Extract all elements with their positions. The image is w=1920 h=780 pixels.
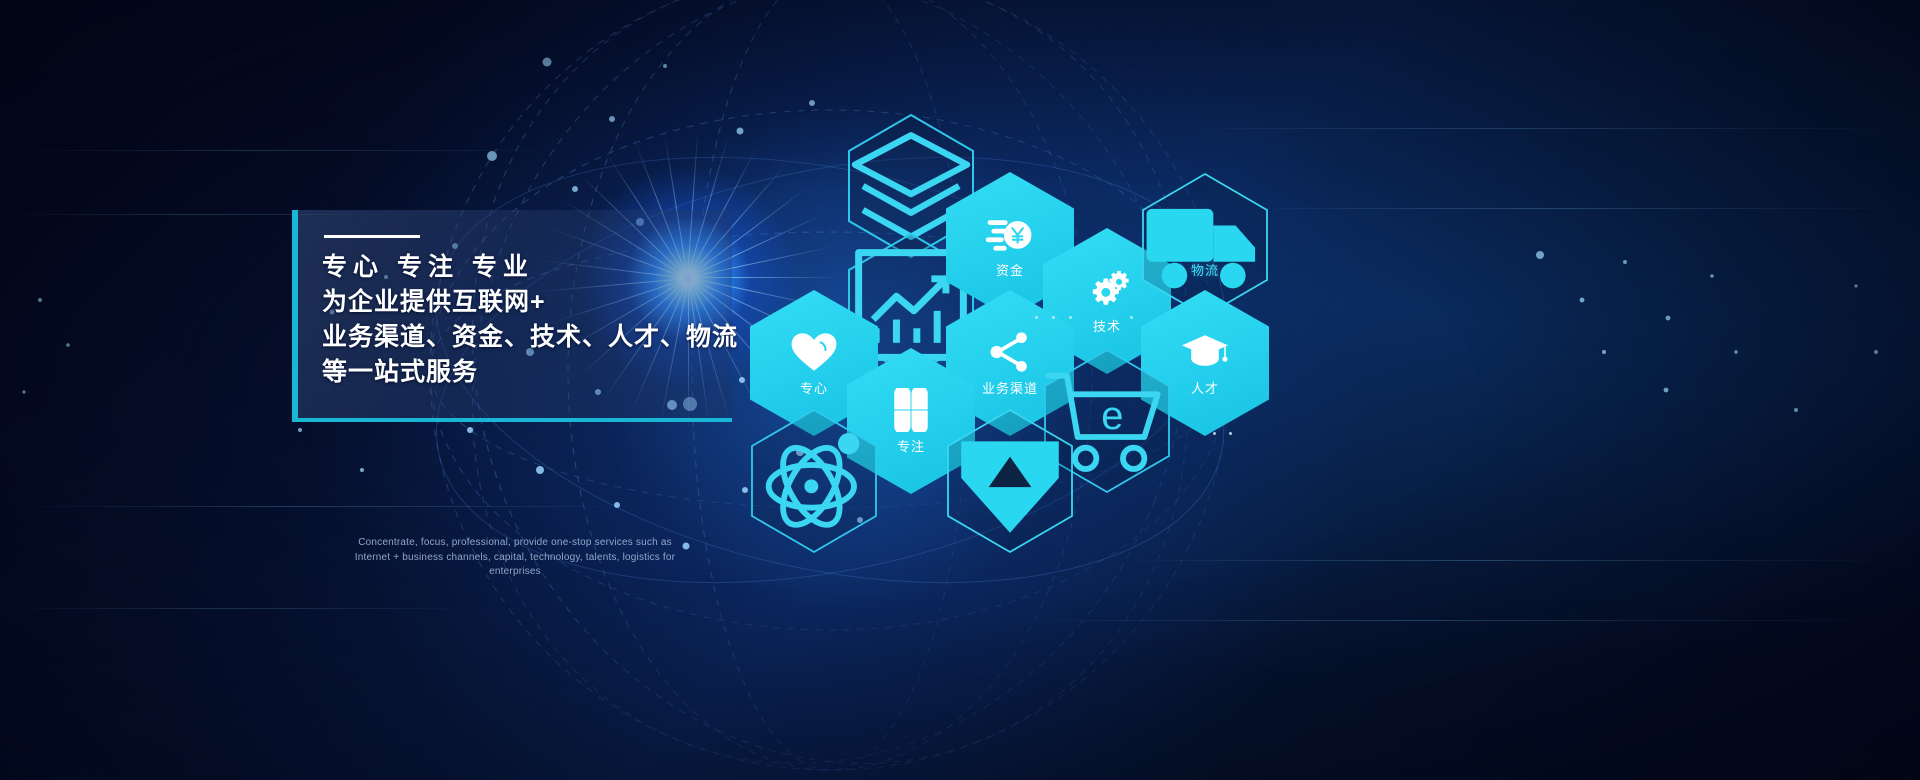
hex-label: 专注 — [897, 436, 925, 455]
connector-dot — [1035, 316, 1038, 319]
hex-label: 资金 — [996, 260, 1024, 279]
yuan-money-icon — [986, 212, 1034, 256]
connector-dot — [1069, 316, 1072, 319]
connector-dot — [1213, 432, 1216, 435]
hex-science[interactable] — [750, 408, 878, 554]
clover-icon — [889, 388, 933, 432]
hero-banner: 专心 专注 专业 为企业提供互联网+ 业务渠道、资金、技术、人才、物流 等一站式… — [0, 0, 1920, 780]
heart-icon — [790, 330, 838, 374]
connector-dot — [1130, 316, 1133, 319]
hex-label: 专心 — [800, 378, 828, 397]
share-nodes-icon — [988, 330, 1032, 374]
connector-dot — [1229, 432, 1232, 435]
hex-label: 技术 — [1093, 316, 1121, 335]
hex-label: 人才 — [1191, 378, 1219, 397]
graduation-cap-icon — [1181, 330, 1229, 374]
svg-text:e: e — [1101, 394, 1123, 438]
hex-professional[interactable]: 专业 — [946, 408, 1074, 554]
gears-icon — [1084, 268, 1130, 312]
hex-label: 业务渠道 — [982, 378, 1038, 397]
hexagon-grid: 资金 技术 — [0, 0, 1920, 780]
connector-dot — [1052, 316, 1055, 319]
